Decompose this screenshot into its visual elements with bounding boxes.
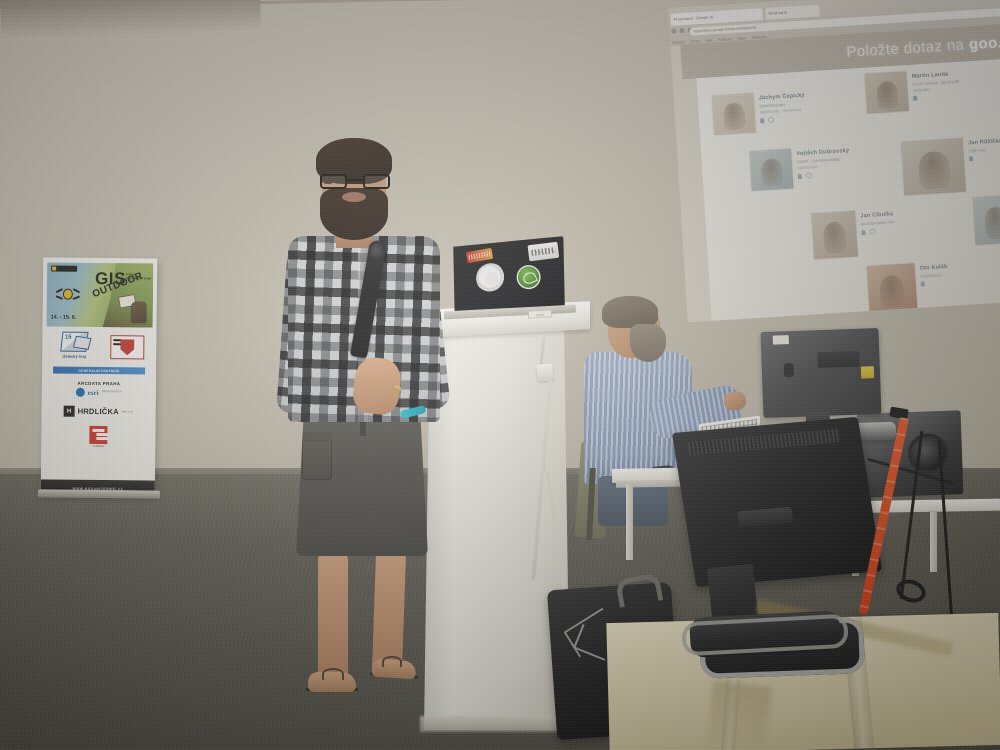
- wall-vignette: [0, 0, 1000, 750]
- photo-scene: Prezentace - Google Sl... Nová karta htt…: [0, 0, 1000, 750]
